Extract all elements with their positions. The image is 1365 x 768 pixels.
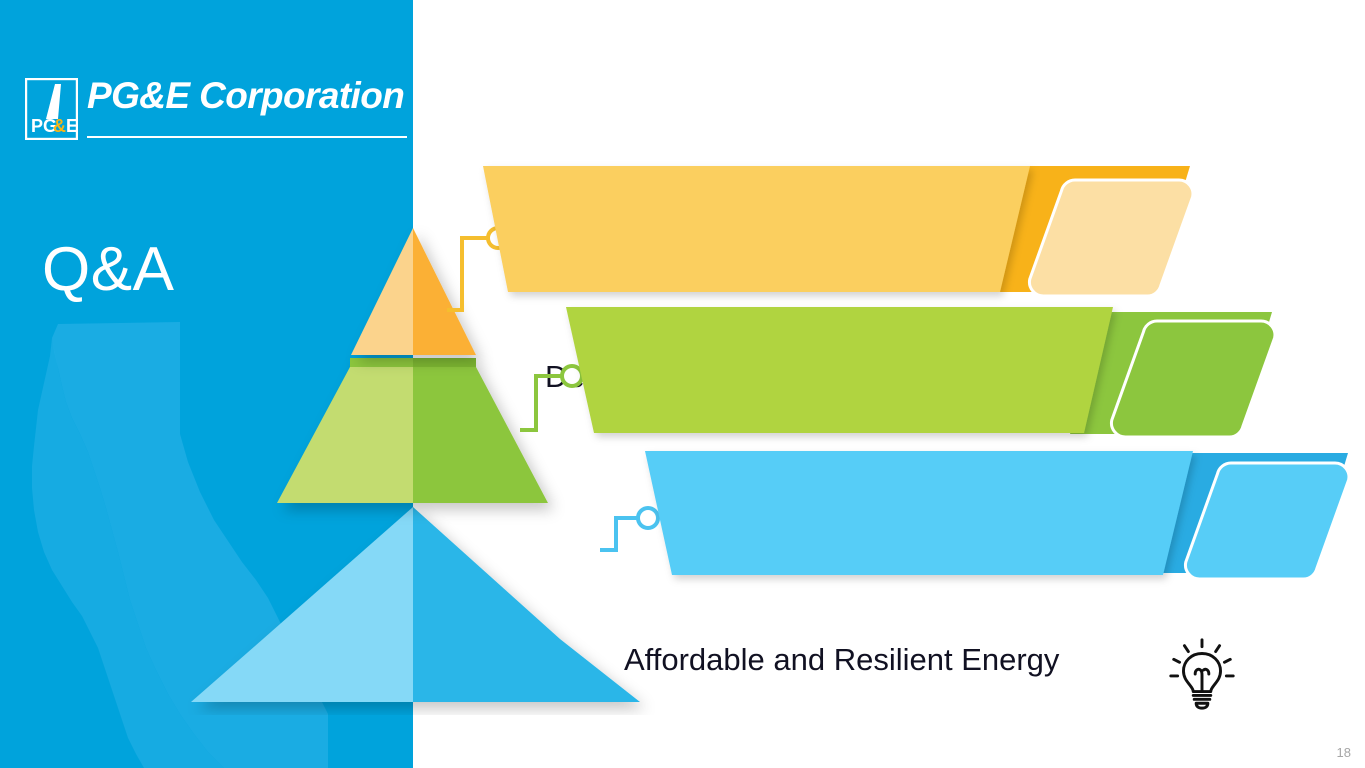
banner-safety[interactable] bbox=[645, 451, 1193, 575]
logo-mark-amp-text: & bbox=[53, 116, 66, 136]
slide-canvas: PG & E PG&E Corporation ® Q&A bbox=[0, 0, 1365, 768]
banner-decarbonized[interactable] bbox=[483, 166, 1030, 292]
connector-line-affordable bbox=[520, 366, 582, 430]
logo-underline-divider bbox=[87, 136, 407, 138]
logo-mark-e-text: E bbox=[66, 116, 78, 136]
banner-affordable[interactable] bbox=[566, 307, 1113, 433]
lightbulb-icon bbox=[1163, 634, 1241, 712]
pge-logo: PG & E PG&E Corporation ® bbox=[25, 78, 403, 146]
connector-node-affordable bbox=[562, 366, 582, 386]
pillar-row-safety: Physical and Financial Safety bbox=[0, 433, 1365, 633]
connector-line-safety bbox=[600, 508, 658, 550]
page-number: 18 bbox=[1337, 745, 1351, 760]
pge-logo-wordmark: PG&E Corporation ® bbox=[87, 74, 403, 126]
pge-logo-wordmark-text: PG&E Corporation bbox=[87, 74, 404, 118]
pillar-label-affordable: Affordable and Resilient Energy bbox=[624, 642, 1059, 678]
connector-node-safety bbox=[638, 508, 658, 528]
pge-logo-mark-icon: PG & E bbox=[25, 78, 78, 140]
